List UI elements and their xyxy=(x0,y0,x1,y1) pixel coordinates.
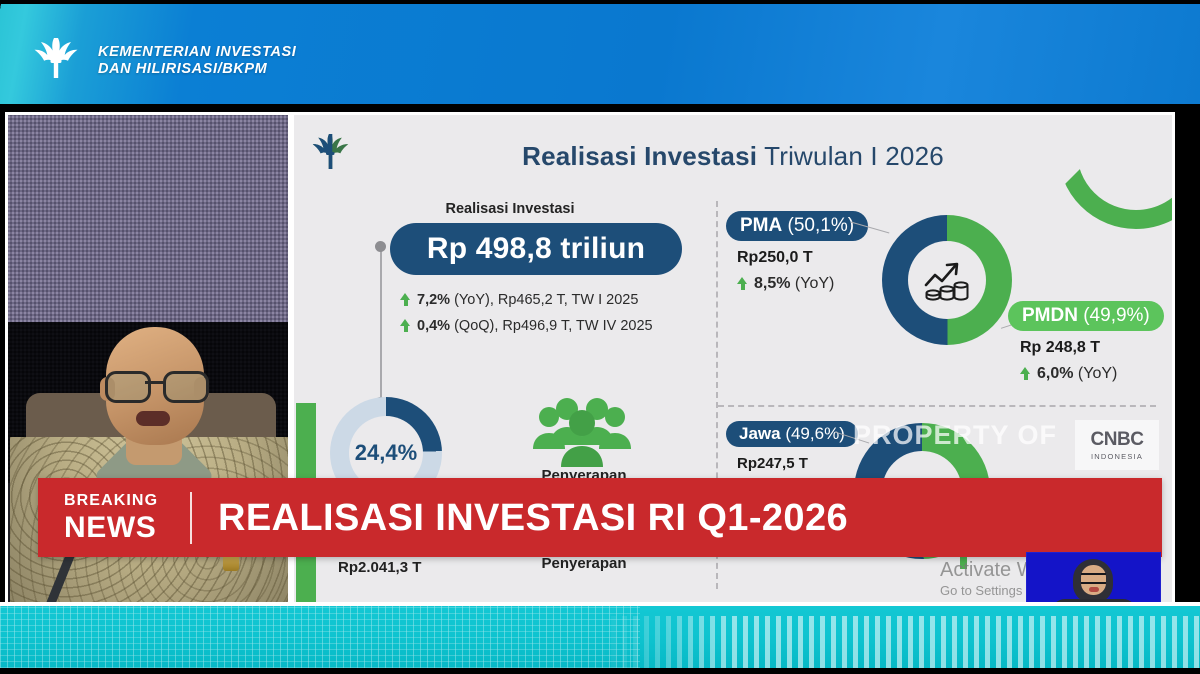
pma-pmdn-donut-chart xyxy=(882,215,1012,345)
slide-title-bold: Realisasi Investasi xyxy=(522,141,757,171)
penyerapan-label-secondary: Penyerapan xyxy=(499,555,669,572)
property-of-watermark: PROPERTY OF xyxy=(853,420,1057,451)
broadcast-screen: KEMENTERIAN INVESTASI DAN HILIRISASI/BKP… xyxy=(0,0,1200,674)
eyeglasses-icon xyxy=(1081,573,1106,584)
people-group-icon xyxy=(527,397,637,473)
pma-growth: 8,5% (YoY) xyxy=(737,275,834,293)
pma-growth-pct: 8,5% xyxy=(754,275,790,292)
pmdn-growth-rest: (YoY) xyxy=(1078,365,1117,382)
bottom-graphic-strip xyxy=(0,602,1200,668)
ministry-name: KEMENTERIAN INVESTASI DAN HILIRISASI/BKP… xyxy=(98,44,296,78)
pmdn-amount: Rp 248,8 T xyxy=(1020,339,1100,357)
banner-separator xyxy=(190,492,192,544)
arrow-up-icon xyxy=(1020,367,1031,380)
pmdn-label-pill: PMDN (49,9%) xyxy=(1008,301,1164,331)
bullet-yoy: 7,2% (YoY), Rp465,2 T, TW I 2025 xyxy=(400,287,653,313)
cnbc-logo-sub: INDONESIA xyxy=(1091,452,1143,461)
jawa-label-bold: Jawa xyxy=(739,424,781,443)
breaking-news-headline: REALISASI INVESTASI RI Q1-2026 xyxy=(218,492,848,544)
jawa-amount: Rp247,5 T xyxy=(737,455,808,472)
pma-label-pill: PMA (50,1%) xyxy=(726,211,868,241)
breaking-news-tag: BREAKING NEWS xyxy=(64,490,178,544)
jawa-label-pill: Jawa (49,6%) xyxy=(726,421,858,447)
eyeglasses-icon xyxy=(105,371,205,397)
bullet-qoq-pct: 0,4% xyxy=(417,318,450,334)
pma-growth-rest: (YoY) xyxy=(795,275,834,292)
arrow-up-icon xyxy=(737,277,748,290)
arrow-up-icon xyxy=(400,293,411,306)
city-skyline-pattern xyxy=(0,602,640,668)
slide-title-rest: Triwulan I 2026 xyxy=(757,141,944,171)
bullet-qoq: 0,4% (QoQ), Rp496,9 T, TW IV 2025 xyxy=(400,313,653,339)
headline-value-pill: Rp 498,8 triliun xyxy=(390,223,682,275)
pmdn-growth: 6,0% (YoY) xyxy=(1020,365,1117,383)
breaking-news-tag-line2: NEWS xyxy=(64,512,178,544)
bullet-yoy-pct: 7,2% xyxy=(417,292,450,308)
pma-label-bold: PMA xyxy=(740,215,782,236)
cnbc-logo-main: CNBC xyxy=(1091,429,1144,451)
pmdn-label-pct: (49,9%) xyxy=(1078,305,1150,326)
breaking-news-banner: BREAKING NEWS REALISASI INVESTASI RI Q1-… xyxy=(38,478,1162,557)
broadcast-header: KEMENTERIAN INVESTASI DAN HILIRISASI/BKP… xyxy=(0,4,1200,104)
ministry-line-2: DAN HILIRISASI/BKPM xyxy=(98,61,296,78)
growth-chart-coins-icon xyxy=(922,258,972,302)
bullet-yoy-rest: (YoY), Rp465,2 T, TW I 2025 xyxy=(454,292,638,308)
pma-amount: Rp250,0 T xyxy=(737,249,813,267)
jawa-label-pct: (49,6%) xyxy=(781,424,845,443)
bullet-qoq-rest: (QoQ), Rp496,9 T, TW IV 2025 xyxy=(454,318,653,334)
callout-connector-line xyxy=(380,245,382,405)
interpreter-mouth xyxy=(1089,587,1099,592)
growth-bullet-list: 7,2% (YoY), Rp465,2 T, TW I 2025 0,4% (Q… xyxy=(400,287,653,339)
pma-label-pct: (50,1%) xyxy=(782,215,854,236)
cnbc-logo-watermark: CNBC INDONESIA xyxy=(1075,420,1159,470)
donut-center xyxy=(908,241,986,319)
bkpm-logo-icon xyxy=(28,34,84,82)
horizontal-divider xyxy=(718,405,1156,407)
speaker-mouth xyxy=(136,411,170,426)
ministry-line-1: KEMENTERIAN INVESTASI xyxy=(98,44,296,61)
arrow-up-icon xyxy=(400,319,411,332)
penyerapan-gauge-subvalue: Rp2.041,3 T xyxy=(338,559,421,576)
pmdn-growth-pct: 6,0% xyxy=(1037,365,1073,382)
led-wall-upper xyxy=(8,115,288,322)
breaking-news-tag-line1: BREAKING xyxy=(64,490,178,512)
pmdn-label-bold: PMDN xyxy=(1022,305,1078,326)
equalizer-bars-pattern xyxy=(600,616,1200,668)
slide-title: Realisasi Investasi Triwulan I 2026 xyxy=(294,141,1172,172)
callout-connector-dot-top xyxy=(375,241,386,252)
realisasi-caption: Realisasi Investasi xyxy=(390,201,630,217)
